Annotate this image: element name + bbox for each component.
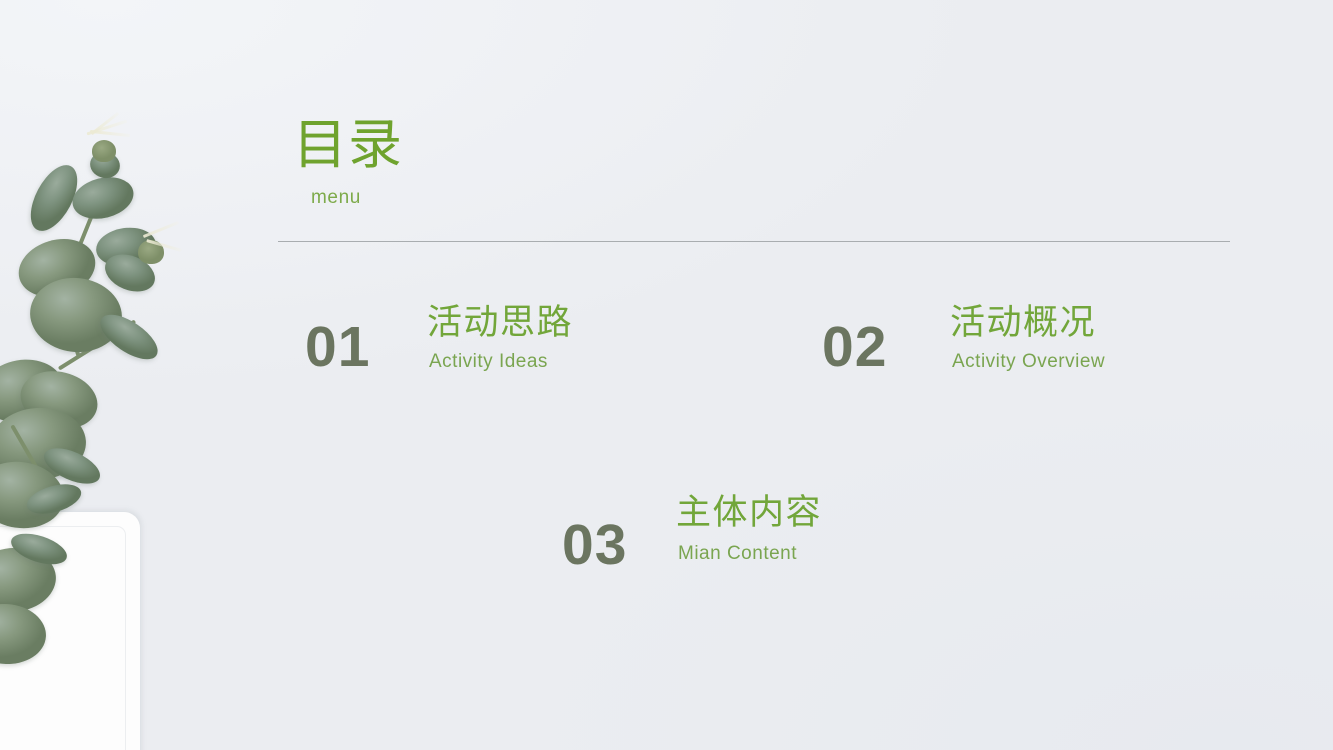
toc-title-cn: 活动概况 xyxy=(950,301,1105,345)
toc-title-cn: 活动思路 xyxy=(427,301,573,345)
slide-content: 目录 menu 01 活动思路 Activity Ideas 02 活动概况 A… xyxy=(0,0,1333,750)
toc-number: 03 xyxy=(562,517,627,574)
toc-title-en: Activity Overview xyxy=(952,349,1105,374)
toc-text-group: 活动概况 Activity Overview xyxy=(950,301,1105,374)
toc-text-group: 主体内容 Mian Content xyxy=(676,491,822,566)
toc-title-en: Activity Ideas xyxy=(429,349,573,374)
page-subtitle: menu xyxy=(311,186,361,210)
header-divider xyxy=(278,241,1230,242)
page-title: 目录 xyxy=(293,114,403,176)
presentation-slide: 目录 menu 01 活动思路 Activity Ideas 02 活动概况 A… xyxy=(0,0,1333,750)
toc-text-group: 活动思路 Activity Ideas xyxy=(427,301,573,374)
toc-number: 01 xyxy=(305,319,370,376)
toc-title-cn: 主体内容 xyxy=(676,491,822,535)
toc-number: 02 xyxy=(822,319,887,376)
toc-title-en: Mian Content xyxy=(678,541,822,566)
